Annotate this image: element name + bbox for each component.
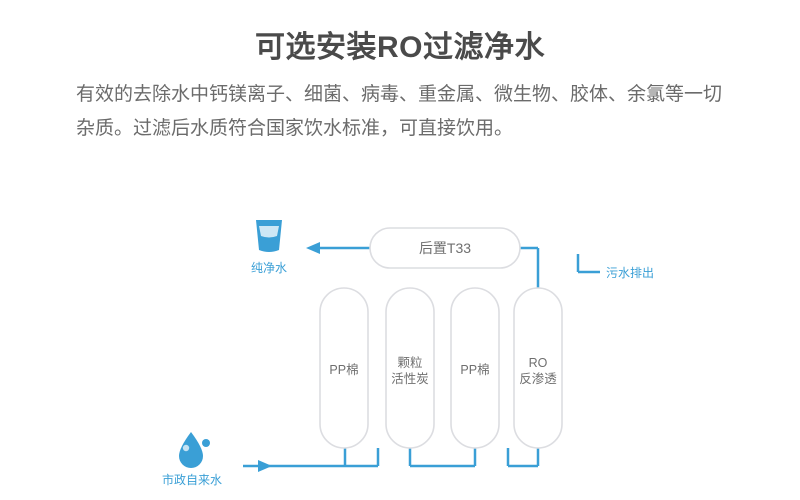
ro-filtration-flow-diagram: 后置T33 PP棉 颗粒 活性炭 PP棉 RO 反渗透 纯净水 污水排出	[0, 200, 800, 500]
tap-water-input-label: 市政自来水	[162, 472, 222, 487]
filter-stage-pp-cotton-2-label: PP棉	[460, 363, 489, 377]
post-t33-module-label: 后置T33	[419, 240, 471, 256]
waste-water-output-label: 污水排出	[606, 266, 654, 280]
pure-water-output-label: 纯净水	[251, 261, 287, 275]
arrow-pure-water	[306, 242, 320, 254]
page-title: 可选安装RO过滤净水	[0, 22, 800, 66]
water-droplet-icon	[179, 432, 210, 468]
product-info-page: 可选安装RO过滤净水 有效的去除水中钙镁离子、细菌、病毒、重金属、微生物、胶体、…	[0, 0, 800, 500]
water-cup-icon	[256, 220, 282, 252]
arrow-inlet	[258, 460, 272, 472]
filter-stage-granular-carbon-label-line2: 活性炭	[391, 372, 429, 386]
filter-stage-ro-membrane-label-line1: RO	[529, 356, 548, 370]
page-description: 有效的去除水中钙镁离子、细菌、病毒、重金属、微生物、胶体、余氯等一切杂质。过滤后…	[76, 78, 736, 146]
filter-stage-granular-carbon-label-line1: 颗粒	[397, 355, 422, 370]
filter-stage-ro-membrane-label-line2: 反渗透	[519, 371, 557, 386]
filter-stage-pp-cotton-1-label: PP棉	[329, 363, 358, 377]
